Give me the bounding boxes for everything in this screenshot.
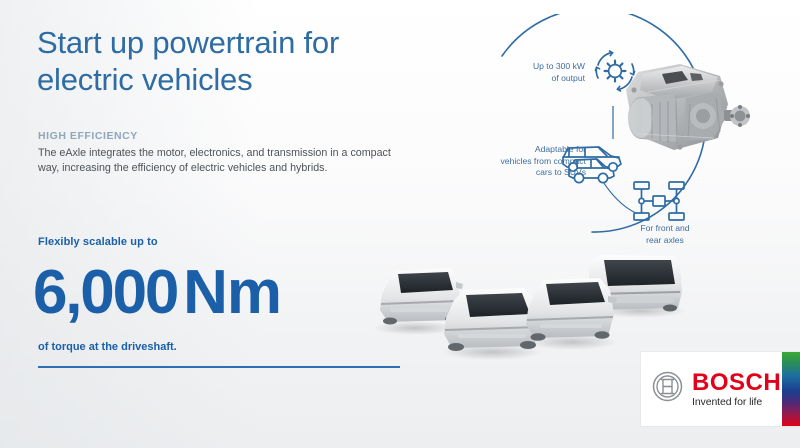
bosch-armature-icon bbox=[652, 371, 683, 407]
adaptable-vehicles-label: Adaptable for vehicles from compact cars… bbox=[446, 144, 586, 179]
infographic-canvas: Start up powertrain for electric vehicle… bbox=[0, 0, 800, 448]
torque-lead-text: Flexibly scalable up to bbox=[38, 236, 158, 248]
bosch-color-bar bbox=[782, 352, 800, 426]
divider-rule bbox=[38, 366, 400, 368]
vehicle-lineup-image bbox=[368, 248, 688, 364]
bosch-wordmark: BOSCH Invented for life bbox=[692, 370, 781, 408]
torque-caption: of torque at the driveshaft. bbox=[38, 341, 177, 353]
torque-unit: Nm bbox=[183, 258, 281, 327]
torque-number: 6,000 bbox=[33, 258, 177, 327]
section-body-text: The eAxle integrates the motor, electron… bbox=[38, 146, 393, 176]
gear-rotation-icon bbox=[592, 48, 638, 99]
eaxle-diagram: Up to 300 kW of output Adaptable for veh… bbox=[440, 14, 800, 264]
front-rear-axles-label: For front and rear axles bbox=[610, 223, 720, 246]
vehicle-crossover-suv bbox=[526, 278, 617, 341]
bosch-logo: BOSCH Invented for life bbox=[641, 352, 800, 426]
page-title: Start up powertrain for electric vehicle… bbox=[37, 24, 437, 98]
bosch-brand-name: BOSCH bbox=[692, 370, 781, 395]
power-output-label: Up to 300 kW of output bbox=[490, 61, 585, 84]
section-kicker: HIGH EFFICIENCY bbox=[38, 130, 138, 142]
torque-value: 6,000Nm bbox=[33, 258, 281, 328]
bosch-tagline: Invented for life bbox=[692, 396, 781, 408]
front-rear-axle-icon bbox=[630, 180, 688, 227]
